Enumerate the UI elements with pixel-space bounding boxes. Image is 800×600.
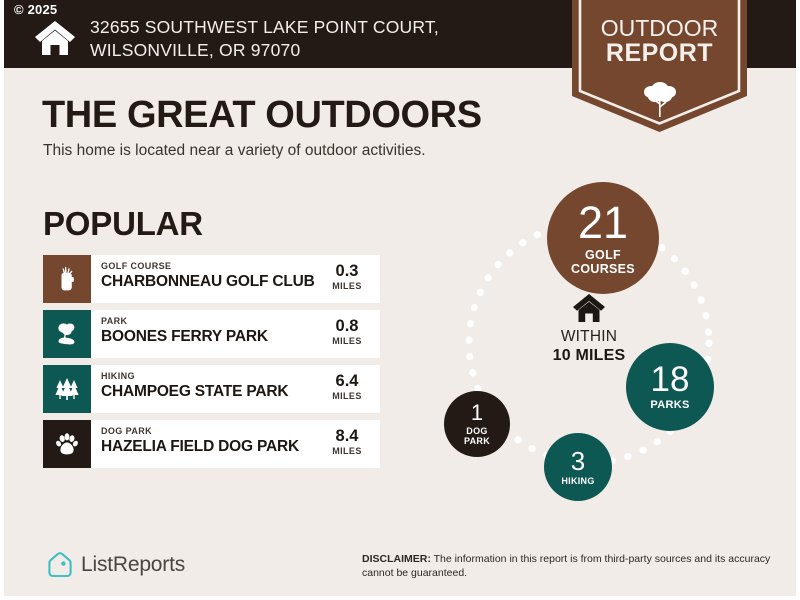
list-item-distance: 8.4 MILES: [320, 420, 380, 468]
center-line-2: 10 MILES: [524, 346, 654, 365]
list-item-text: DOG PARK HAZELIA FIELD DOG PARK: [91, 420, 320, 468]
stat-label-line-2: COURSES: [571, 262, 635, 276]
stat-value: 3: [571, 448, 585, 474]
popular-list: GOLF COURSE CHARBONNEAU GOLF CLUB 0.3 MI…: [43, 255, 380, 475]
stat-value: 18: [651, 362, 690, 397]
stat-label: PARKS: [650, 399, 689, 412]
paw-print-icon: [43, 420, 91, 468]
stat-value: 21: [578, 200, 628, 245]
list-item-text: HIKING CHAMPOEG STATE PARK: [91, 365, 320, 413]
page-subtitle: This home is located near a variety of o…: [43, 142, 426, 160]
home-icon: [572, 310, 606, 327]
disclaimer: DISCLAIMER: The information in this repo…: [362, 552, 782, 580]
list-item-category: PARK: [101, 316, 320, 327]
list-item-name: CHAMPOEG STATE PARK: [101, 382, 320, 401]
stat-value: 1: [471, 402, 483, 424]
stat-circle-hiking[interactable]: 3 HIKING: [544, 433, 612, 501]
home-icon: [34, 20, 76, 56]
listreports-wordmark: ListReports: [81, 553, 185, 577]
stat-label-line-2: PARK: [464, 436, 490, 447]
list-item-distance: 6.4 MILES: [320, 365, 380, 413]
listreports-house-icon: [47, 551, 73, 579]
list-item[interactable]: DOG PARK HAZELIA FIELD DOG PARK 8.4 MILE…: [43, 420, 380, 468]
golf-bag-icon: [43, 255, 91, 303]
list-item-name: BOONES FERRY PARK: [101, 327, 320, 346]
distance-unit: MILES: [320, 390, 374, 402]
badge-title: OUTDOOR REPORT: [572, 16, 747, 66]
stat-label-line-1: DOG: [464, 426, 490, 437]
list-item-category: DOG PARK: [101, 426, 320, 437]
stat-circle-dog-park[interactable]: 1 DOG PARK: [444, 391, 510, 457]
distance-value: 0.3: [320, 263, 374, 280]
park-tree-icon: [43, 310, 91, 358]
stat-label: DOG PARK: [464, 426, 490, 447]
stat-label: HIKING: [561, 476, 594, 487]
list-item-category: GOLF COURSE: [101, 261, 320, 272]
pine-trees-icon: [43, 365, 91, 413]
distance-value: 8.4: [320, 428, 374, 445]
page-title: THE GREAT OUTDOORS: [42, 94, 482, 137]
stat-label: GOLF COURSES: [571, 248, 635, 276]
distance-value: 6.4: [320, 373, 374, 390]
list-item[interactable]: PARK BOONES FERRY PARK 0.8 MILES: [43, 310, 380, 358]
list-item-name: HAZELIA FIELD DOG PARK: [101, 437, 320, 456]
disclaimer-label: DISCLAIMER:: [362, 553, 431, 565]
distance-unit: MILES: [320, 280, 374, 292]
center-line-1: WITHIN: [524, 328, 654, 346]
list-item[interactable]: GOLF COURSE CHARBONNEAU GOLF CLUB 0.3 MI…: [43, 255, 380, 303]
tree-icon: [643, 78, 677, 118]
list-item-distance: 0.8 MILES: [320, 310, 380, 358]
copyright-label: © 2025: [14, 3, 57, 16]
amenities-circle-diagram: 21 GOLF COURSES 18 PARKS 3 HIKING 1 DOG …: [429, 175, 799, 515]
listreports-logo[interactable]: ListReports: [47, 551, 185, 579]
outdoor-report-page: © 2025 32655 SOUTHWEST LAKE POINT COURT,…: [0, 0, 800, 600]
outdoor-report-badge: OUTDOOR REPORT: [572, 0, 747, 132]
property-address: 32655 SOUTHWEST LAKE POINT COURT, WILSON…: [90, 16, 560, 62]
list-item-distance: 0.3 MILES: [320, 255, 380, 303]
list-item-text: GOLF COURSE CHARBONNEAU GOLF CLUB: [91, 255, 320, 303]
list-item[interactable]: HIKING CHAMPOEG STATE PARK 6.4 MILES: [43, 365, 380, 413]
list-item-category: HIKING: [101, 371, 320, 382]
popular-section-heading: POPULAR: [43, 205, 203, 243]
distance-unit: MILES: [320, 445, 374, 457]
badge-line-2: REPORT: [572, 41, 747, 66]
list-item-name: CHARBONNEAU GOLF CLUB: [101, 272, 320, 291]
distance-unit: MILES: [320, 335, 374, 347]
diagram-center-label: WITHIN 10 MILES: [524, 293, 654, 365]
badge-line-1: OUTDOOR: [572, 16, 747, 41]
distance-value: 0.8: [320, 318, 374, 335]
list-item-text: PARK BOONES FERRY PARK: [91, 310, 320, 358]
stat-circle-golf-courses[interactable]: 21 GOLF COURSES: [547, 182, 659, 294]
stat-label-line-1: GOLF: [571, 248, 635, 262]
